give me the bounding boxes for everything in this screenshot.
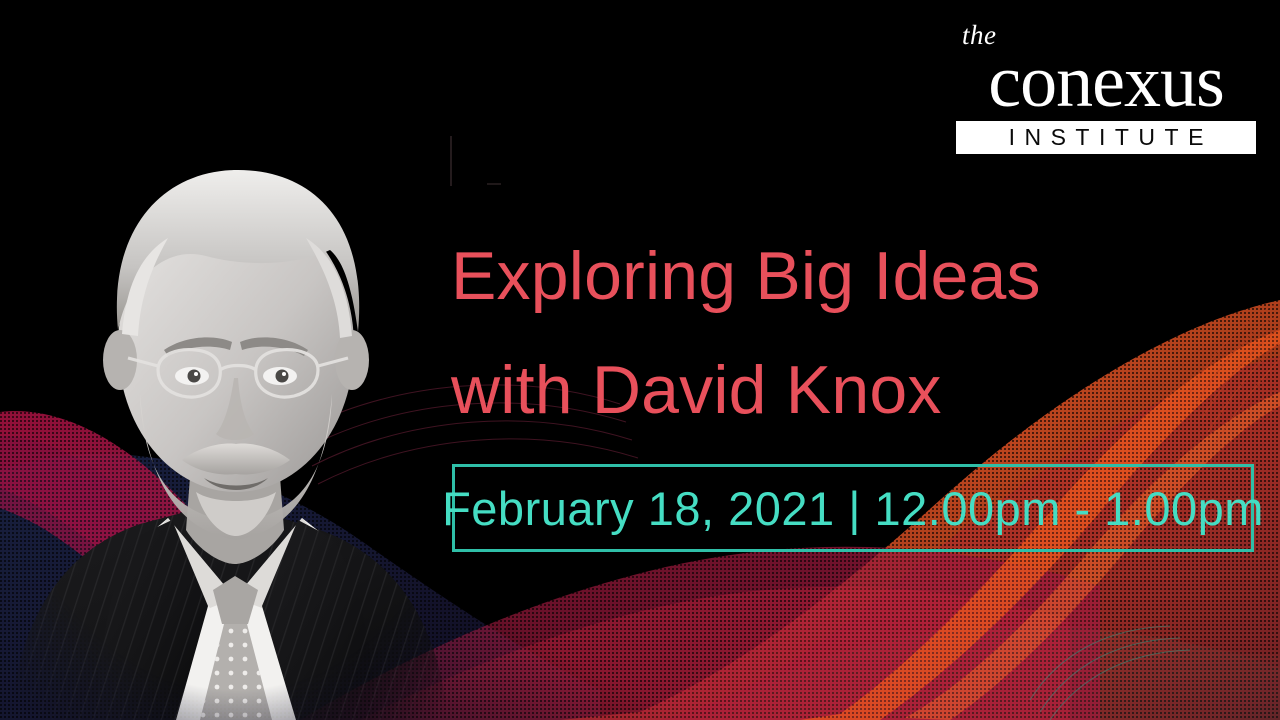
background-streak-artifact [450,136,452,186]
event-datetime-box: February 18, 2021 | 12.00pm - 1.00pm [452,464,1254,552]
logo-institute-bar: INSTITUTE [956,121,1256,154]
logo-wordmark: conexus [956,51,1256,115]
title-line-1: Exploring Big Ideas [451,219,1041,333]
speaker-portrait [0,78,470,720]
title-line-2: with David Knox [451,333,1041,447]
webinar-promo-poster: the conexus INSTITUTE Exploring Big Idea… [0,0,1280,720]
conexus-institute-logo: the conexus INSTITUTE [956,22,1256,154]
page-title: Exploring Big Ideas with David Knox [451,219,1041,447]
background-streak-artifact-secondary [487,183,501,185]
logo-institute-text: INSTITUTE [999,124,1213,151]
event-datetime-text: February 18, 2021 | 12.00pm - 1.00pm [442,481,1264,536]
